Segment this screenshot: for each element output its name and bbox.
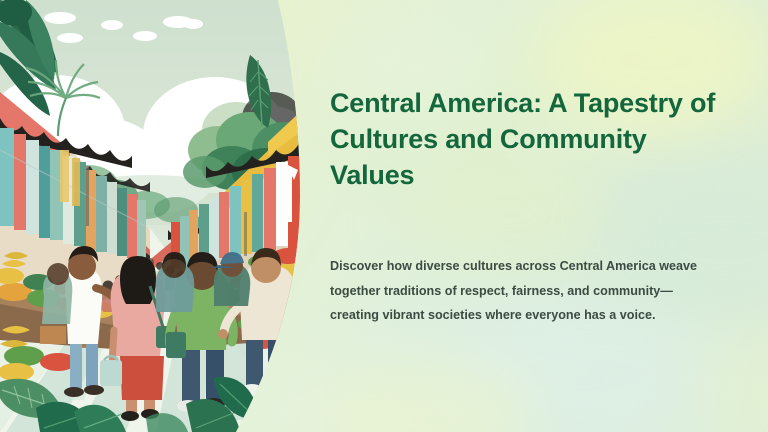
page-title: Central America: A Tapestry of Cultures … (330, 86, 730, 194)
slide-text-block: Central America: A Tapestry of Cultures … (330, 86, 730, 194)
market-scene-illustration (0, 0, 300, 432)
slide-subtitle-block: Discover how diverse cultures across Cen… (330, 254, 720, 328)
slide-body-text: Discover how diverse cultures across Cen… (330, 254, 720, 328)
slide-root: Central America: A Tapestry of Cultures … (0, 0, 768, 432)
